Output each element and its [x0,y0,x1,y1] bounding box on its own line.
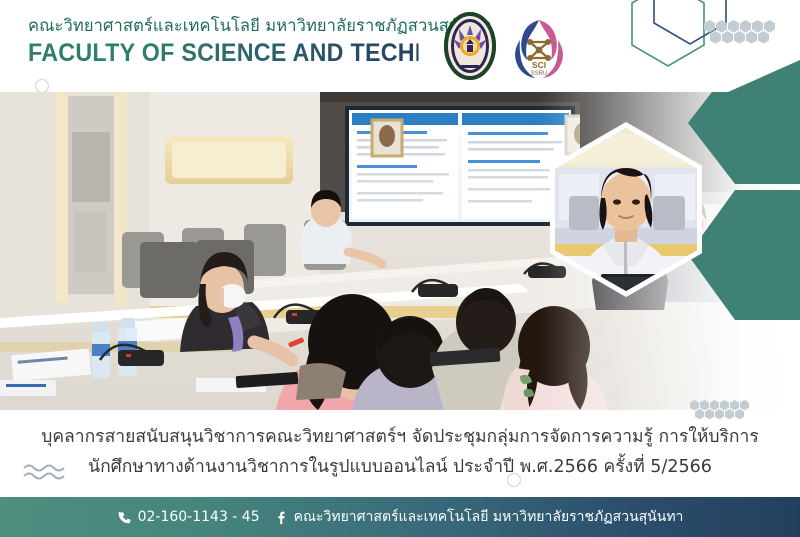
svg-text:SSRU: SSRU [531,71,548,77]
hexagon-outline-decoration [612,0,742,98]
hexagon-dots-bottom [690,400,752,422]
footer-bar: 02-160-1143 - 45 คณะวิทยาศาสตร์และเทคโนโ… [0,497,800,537]
ssru-university-seal-icon [443,11,497,81]
footer-phone-text: 02-160-1143 - 45 [138,509,260,525]
svg-text:SCI: SCI [532,60,546,70]
header-english-title: FACULTY OF SCIENCE AND TECHNOLOGY [28,40,419,66]
facebook-icon [273,510,288,525]
hexagon-dots-top [704,20,776,46]
footer-facebook-text: คณะวิทยาศาสตร์และเทคโนโลยี มหาวิทยาลัยรา… [294,506,684,528]
caption-block: บุคลากรสายสนับสนุนวิชาการคณะวิทยาศาสตร์ฯ… [0,412,800,495]
wave-decoration-icon [22,462,70,482]
sci-ssru-logo-icon: SCI SSRU [508,16,570,78]
header-thai-title: คณะวิทยาศาสตร์และเทคโนโลยี มหาวิทยาลัยรา… [28,16,448,37]
circle-decoration-bottom [506,472,522,488]
footer-facebook-item[interactable]: คณะวิทยาศาสตร์และเทคโนโลยี มหาวิทยาลัยรา… [273,506,684,528]
footer-phone-item[interactable]: 02-160-1143 - 45 [117,509,260,525]
caption-line-1: บุคลากรสายสนับสนุนวิชาการคณะวิทยาศาสตร์ฯ… [0,412,800,452]
phone-icon [117,510,132,525]
header-bar: คณะวิทยาศาสตร์และเทคโนโลยี มหาวิทยาลัยรา… [0,0,800,92]
header-titles: คณะวิทยาศาสตร์และเทคโนโลยี มหาวิทยาลัยรา… [28,16,448,66]
circle-decoration-top [34,78,50,94]
caption-line-2: นักศึกษาทางด้านงานวิชาการในรูปแบบออนไลน์… [0,452,800,482]
poster-canvas: คณะวิทยาศาสตร์และเทคโนโลยี มหาวิทยาลัยรา… [0,0,800,537]
